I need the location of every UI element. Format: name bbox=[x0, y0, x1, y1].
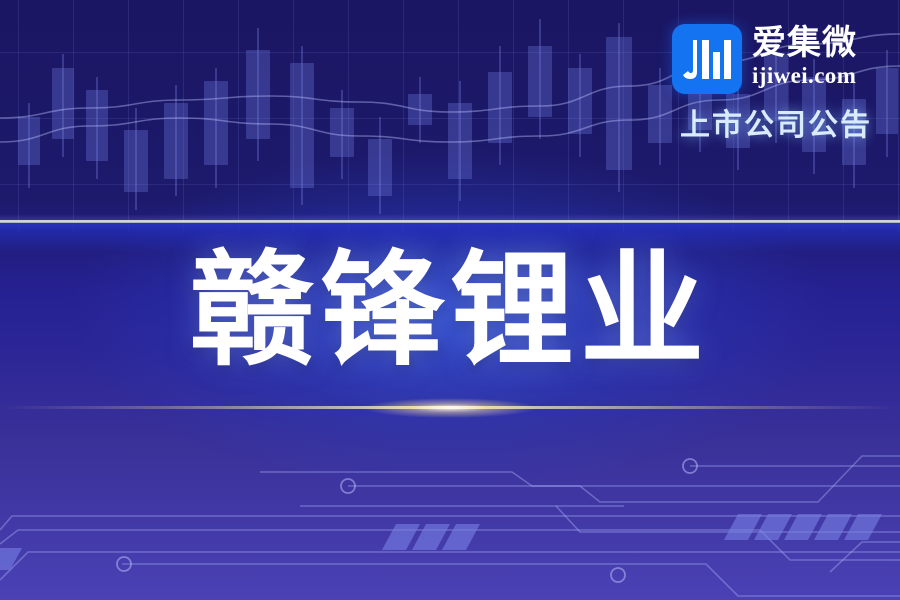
logo-row: 爱集微 ijiwei.com bbox=[672, 24, 857, 94]
announcement-banner: 赣锋锂业 bbox=[0, 0, 900, 600]
ijiwei-logo-block[interactable]: 爱集微 ijiwei.com 上市公司公告 bbox=[672, 24, 882, 148]
banner-subtitle: 上市公司公告 bbox=[680, 108, 872, 144]
brand-name-cn: 爱集微 bbox=[752, 24, 857, 62]
page-title: 赣锋锂业 bbox=[0, 238, 900, 384]
circuit-pattern-decoration bbox=[0, 420, 900, 600]
bar-chart-logo-icon bbox=[672, 24, 742, 94]
brand-domain: ijiwei.com bbox=[752, 63, 857, 89]
logo-text: 爱集微 ijiwei.com bbox=[752, 24, 857, 89]
